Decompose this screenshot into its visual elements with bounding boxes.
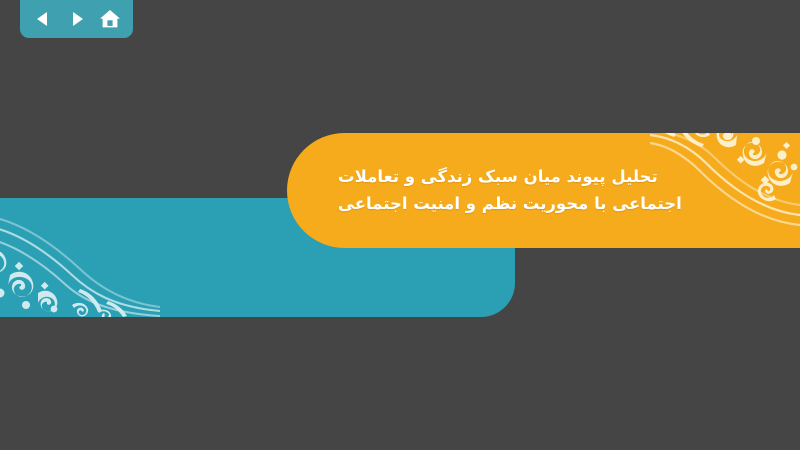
slide-title: تحلیل پیوند میان سبک زندگی و تعاملات اجت… xyxy=(338,133,738,248)
forward-triangle-icon xyxy=(68,10,86,28)
title-panel: تحلیل پیوند میان سبک زندگی و تعاملات اجت… xyxy=(287,133,800,248)
back-triangle-icon xyxy=(34,10,52,28)
title-line-2: اجتماعی با محوریت نظم و امنیت اجتماعی xyxy=(338,191,682,218)
home-icon xyxy=(99,9,121,29)
navigation-bar xyxy=(20,0,133,38)
teal-arabesque-ornament xyxy=(0,198,160,317)
back-button[interactable] xyxy=(29,5,57,33)
home-button[interactable] xyxy=(96,5,124,33)
title-line-1: تحلیل پیوند میان سبک زندگی و تعاملات xyxy=(338,164,658,191)
presentation-slide: تحلیل پیوند میان سبک زندگی و تعاملات اجت… xyxy=(0,0,800,450)
forward-button[interactable] xyxy=(63,5,91,33)
